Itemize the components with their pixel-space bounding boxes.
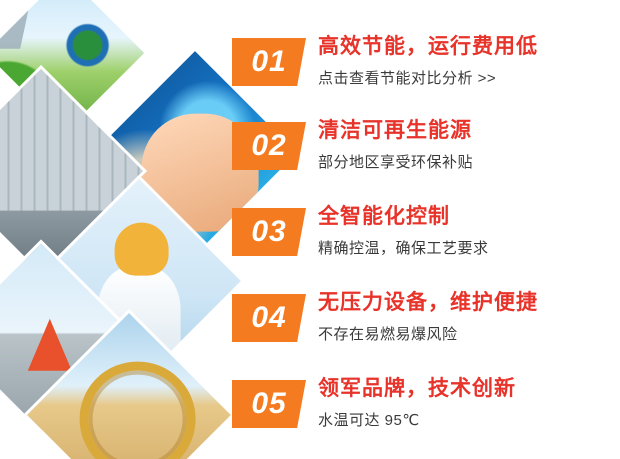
feature-row[interactable]: 01 高效节能，运行费用低 点击查看节能对比分析 >>	[232, 24, 620, 108]
feature-title: 高效节能，运行费用低	[318, 30, 618, 60]
feature-list: 01 高效节能，运行费用低 点击查看节能对比分析 >> 02 清洁可再生能源 部…	[232, 24, 620, 452]
feature-number-badge: 04	[232, 294, 306, 342]
feature-subtitle: 精确控温，确保工艺要求	[318, 237, 618, 258]
feature-row[interactable]: 04 无压力设备，维护便捷 不存在易燃易爆风险	[232, 280, 620, 366]
feature-subtitle: 部分地区享受环保补贴	[318, 151, 618, 172]
feature-number-badge: 05	[232, 380, 306, 428]
feature-text-group: 无压力设备，维护便捷 不存在易燃易爆风险	[318, 286, 618, 344]
feature-text-group: 清洁可再生能源 部分地区享受环保补贴	[318, 114, 618, 172]
feature-number-badge: 03	[232, 208, 306, 256]
feature-title: 无压力设备，维护便捷	[318, 286, 618, 316]
feature-text-group: 全智能化控制 精确控温，确保工艺要求	[318, 200, 618, 258]
feature-text-group: 领军品牌，技术创新 水温可达 95℃	[318, 372, 618, 430]
feature-row[interactable]: 03 全智能化控制 精确控温，确保工艺要求	[232, 194, 620, 280]
feature-subtitle[interactable]: 点击查看节能对比分析 >>	[318, 67, 618, 88]
feature-title: 领军品牌，技术创新	[318, 372, 618, 402]
feature-row[interactable]: 05 领军品牌，技术创新 水温可达 95℃	[232, 366, 620, 452]
promo-banner: 01 高效节能，运行费用低 点击查看节能对比分析 >> 02 清洁可再生能源 部…	[0, 0, 620, 459]
feature-title: 清洁可再生能源	[318, 114, 618, 144]
feature-text-group: 高效节能，运行费用低 点击查看节能对比分析 >>	[318, 30, 618, 88]
feature-subtitle: 不存在易燃易爆风险	[318, 323, 618, 344]
feature-title: 全智能化控制	[318, 200, 618, 230]
feature-number-badge: 01	[232, 38, 306, 86]
feature-row[interactable]: 02 清洁可再生能源 部分地区享受环保补贴	[232, 108, 620, 194]
feature-subtitle: 水温可达 95℃	[318, 409, 618, 430]
feature-number-badge: 02	[232, 122, 306, 170]
